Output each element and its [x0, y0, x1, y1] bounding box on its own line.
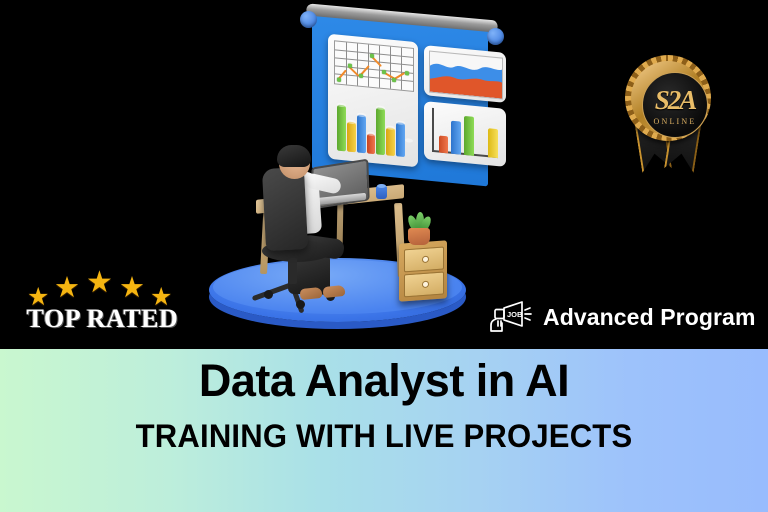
top-rated-badge: ★ ★ ★ ★ ★ TOP RATED — [25, 268, 180, 338]
chair-caster — [264, 290, 273, 299]
rosette-inner-ring: S2A ONLINE — [631, 61, 705, 135]
line-marker — [405, 71, 409, 75]
s2a-online-rosette-badge: S2A ONLINE — [615, 55, 720, 175]
chart-panel-left — [328, 34, 418, 168]
megaphone-job-icon: JOB — [488, 299, 534, 335]
board-knob-right — [487, 28, 504, 45]
plant-pot — [408, 228, 430, 245]
poster-canvas: ★ ★ ★ ★ ★ TOP RATED S2A ONLINE — [0, 0, 768, 512]
person-shoe — [322, 285, 345, 298]
brand-sublabel: ONLINE — [654, 117, 697, 126]
rosette-gold-rim: S2A ONLINE — [625, 55, 711, 141]
line-marker — [370, 54, 374, 58]
coffee-mug — [376, 186, 387, 199]
advanced-program-label: Advanced Program — [543, 304, 756, 331]
line-marker — [359, 74, 363, 78]
brand-monogram: S2A — [655, 87, 696, 114]
person-hair — [277, 145, 311, 167]
board-knob-left — [300, 11, 317, 28]
star-icon: ★ — [119, 274, 145, 303]
side-cabinet — [399, 240, 447, 301]
chair-caster — [296, 300, 305, 309]
line-chart — [334, 40, 414, 92]
person-shoe — [299, 287, 322, 300]
line-marker — [348, 64, 352, 68]
bar-chart-axis — [432, 108, 498, 160]
line-marker — [392, 78, 396, 82]
chair-stem — [288, 258, 297, 284]
area-chart — [429, 51, 503, 100]
star-icon: ★ — [54, 274, 80, 303]
chart-panel-area — [424, 45, 506, 103]
rosette-core: S2A ONLINE — [642, 72, 708, 138]
bar-chart-3d — [335, 92, 413, 158]
page-title: Data Analyst in AI — [0, 358, 768, 403]
page-subtitle: TRAINING WITH LIVE PROJECTS — [12, 420, 757, 452]
cabinet-drawer — [404, 272, 444, 298]
advanced-program-tag: JOB Advanced Program — [488, 298, 756, 336]
megaphone-job-label: JOB — [507, 310, 523, 319]
star-rating: ★ ★ ★ ★ ★ — [25, 268, 180, 304]
chair-backrest — [262, 167, 308, 251]
cabinet-drawer — [404, 247, 444, 273]
chart-panel-bars — [424, 101, 506, 167]
line-marker — [382, 70, 386, 74]
star-icon: ★ — [86, 268, 113, 298]
top-rated-label: TOP RATED — [25, 304, 180, 334]
line-marker — [337, 78, 341, 82]
area-chart-svg — [430, 52, 502, 99]
